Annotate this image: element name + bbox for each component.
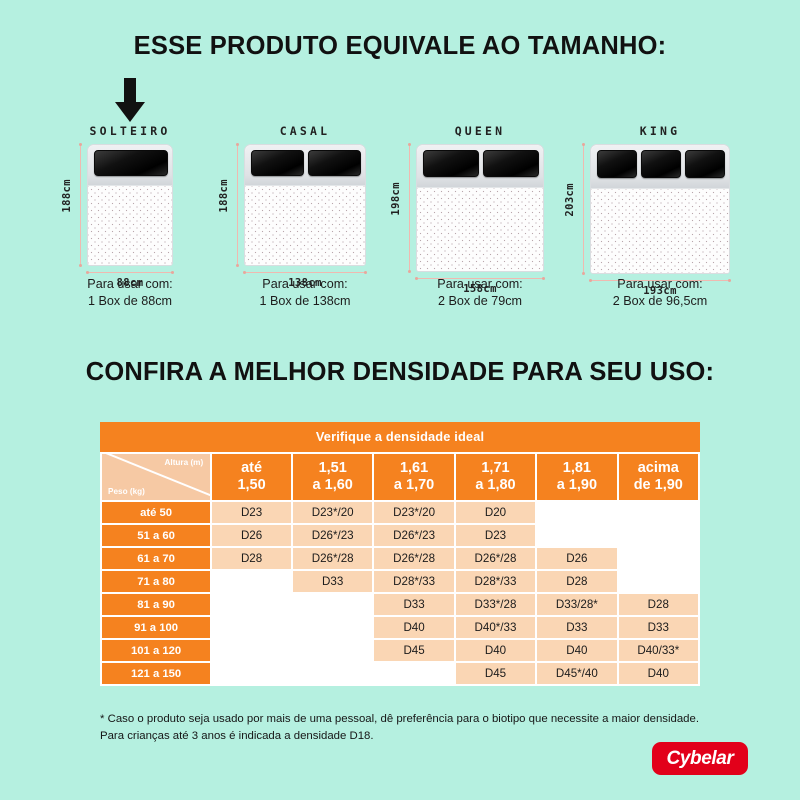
table-row: até 50D23D23*/20D23*/20D20 (102, 502, 698, 523)
density-cell-empty (374, 663, 453, 684)
axis-label-weight: Peso (kg) (108, 487, 145, 497)
density-cell-empty (537, 525, 616, 546)
guide-tick (243, 271, 246, 274)
density-cell-empty (293, 663, 372, 684)
table-row: 51 a 60D26D26*/23D26*/23D23 (102, 525, 698, 546)
column-header-line2: de 1,90 (619, 477, 698, 494)
page-title-sizes: ESSE PRODUTO EQUIVALE AO TAMANHO: (0, 32, 800, 61)
density-cell: D20 (456, 502, 535, 523)
bed-usage-note: Para usar com:2 Box de 79cm (390, 276, 570, 310)
density-cell: D26 (212, 525, 291, 546)
pillow-icon (308, 150, 361, 176)
bed-illustration (590, 144, 730, 274)
bed-usage-note: Para usar com:2 Box de 96,5cm (565, 276, 755, 310)
density-cell: D26*/28 (374, 548, 453, 569)
density-cell: D26*/23 (374, 525, 453, 546)
pillow-icon (685, 150, 725, 178)
density-grid: Altura (m) Peso (kg) até1,501,51a 1,601,… (100, 452, 700, 686)
density-cell-empty (619, 525, 698, 546)
pillow-icon (641, 150, 681, 178)
guide-tick (86, 271, 89, 274)
density-cell-empty (212, 617, 291, 638)
density-cell: D33 (293, 571, 372, 592)
axis-label-height-line1: Altura (165, 458, 189, 467)
table-row: 91 a 100D40D40*/33D33D33 (102, 617, 698, 638)
bed-card-queen: QUEEN198cm158cmPara usar com:2 Box de 79… (390, 76, 570, 326)
column-header-line2: a 1,60 (293, 477, 372, 494)
density-cell-empty (619, 571, 698, 592)
bed-illustration (244, 144, 366, 266)
density-cell: D33/28* (537, 594, 616, 615)
axis-label-height: Altura (m) (165, 458, 204, 468)
brand-logo: Cybelar (652, 742, 748, 775)
density-cell: D28 (537, 571, 616, 592)
density-cell-empty (212, 571, 291, 592)
density-cell-empty (293, 640, 372, 661)
footnote: * Caso o produto seja usado por mais de … (100, 711, 700, 744)
mattress-surface (88, 185, 172, 265)
density-cell: D26*/28 (293, 548, 372, 569)
table-body: até 50D23D23*/20D23*/20D2051 a 60D26D26*… (102, 502, 698, 684)
pillow-icon (597, 150, 637, 178)
guide-tick (79, 143, 82, 146)
density-cell-empty (293, 594, 372, 615)
density-cell: D40 (456, 640, 535, 661)
bed-usage-note-line1: Para usar com: (215, 276, 395, 293)
density-cell-empty (619, 548, 698, 569)
density-cell: D26 (537, 548, 616, 569)
density-cell: D28 (619, 594, 698, 615)
column-header-line2: a 1,90 (537, 477, 616, 494)
bed-size-name: QUEEN (390, 124, 570, 138)
axis-corner-cell: Altura (m) Peso (kg) (102, 454, 210, 500)
column-header-line1: 1,51 (293, 460, 372, 477)
density-cell-empty (619, 502, 698, 523)
bed-illustration (87, 144, 173, 266)
row-header-weight-range: 101 a 120 (102, 640, 210, 661)
density-cell: D33 (619, 617, 698, 638)
column-header-5: 1,81a 1,90 (537, 454, 616, 500)
bed-usage-note-line2: 2 Box de 96,5cm (565, 293, 755, 310)
density-cell: D26*/28 (456, 548, 535, 569)
bed-usage-note-line1: Para usar com: (40, 276, 220, 293)
row-header-weight-range: 121 a 150 (102, 663, 210, 684)
row-header-weight-range: 51 a 60 (102, 525, 210, 546)
table-header-row: Altura (m) Peso (kg) até1,501,51a 1,601,… (102, 454, 698, 500)
column-header-line2: a 1,80 (456, 477, 535, 494)
column-header-6: acimade 1,90 (619, 454, 698, 500)
density-cell: D33 (374, 594, 453, 615)
table-row: 71 a 80D33D28*/33D28*/33D28 (102, 571, 698, 592)
bed-height-dimension: 203cm (564, 183, 576, 217)
guide-tick (79, 264, 82, 267)
width-guide-line (87, 272, 173, 273)
column-header-3: 1,61a 1,70 (374, 454, 453, 500)
density-cell-empty (212, 663, 291, 684)
density-cell: D45 (456, 663, 535, 684)
bed-usage-note-line2: 1 Box de 88cm (40, 293, 220, 310)
bed-usage-note-line1: Para usar com: (565, 276, 755, 293)
pillow-icon (251, 150, 304, 176)
column-header-line1: até (212, 460, 291, 477)
column-header-4: 1,71a 1,80 (456, 454, 535, 500)
column-header-line2: 1,50 (212, 477, 291, 494)
width-guide-line (244, 272, 366, 273)
axis-label-weight-line1: Peso (108, 487, 128, 496)
axis-label-height-line2: (m) (190, 458, 203, 467)
density-cell: D28 (212, 548, 291, 569)
density-cell: D28*/33 (456, 571, 535, 592)
height-guide-line (409, 144, 410, 272)
guide-tick (408, 143, 411, 146)
density-cell-empty (293, 617, 372, 638)
mattress-surface (417, 187, 543, 271)
density-cell: D45*/40 (537, 663, 616, 684)
density-cell-empty (537, 502, 616, 523)
pillow-icon (94, 150, 168, 176)
bed-illustration (416, 144, 544, 272)
height-guide-line (583, 144, 584, 274)
row-header-weight-range: 71 a 80 (102, 571, 210, 592)
bed-card-casal: CASAL188cm138cmPara usar com:1 Box de 13… (215, 76, 395, 326)
bed-size-name: KING (565, 124, 755, 138)
table-banner: Verifique a densidade ideal (100, 422, 700, 452)
column-header-1: até1,50 (212, 454, 291, 500)
row-header-weight-range: até 50 (102, 502, 210, 523)
bed-height-dimension: 198cm (390, 182, 402, 216)
table-row: 121 a 150D45D45*/40D40 (102, 663, 698, 684)
density-cell-empty (212, 640, 291, 661)
mattress-surface (245, 185, 365, 265)
bed-usage-note-line1: Para usar com: (390, 276, 570, 293)
density-cell: D26*/23 (293, 525, 372, 546)
height-guide-line (80, 144, 81, 266)
row-header-weight-range: 81 a 90 (102, 594, 210, 615)
bed-usage-note: Para usar com:1 Box de 138cm (215, 276, 395, 310)
column-header-line1: acima (619, 460, 698, 477)
pillow-icon (483, 150, 539, 177)
guide-tick (236, 264, 239, 267)
table-head: Altura (m) Peso (kg) até1,501,51a 1,601,… (102, 454, 698, 500)
arrow-down-icon (115, 78, 145, 122)
density-cell: D45 (374, 640, 453, 661)
row-header-weight-range: 61 a 70 (102, 548, 210, 569)
page-title-density: CONFIRA A MELHOR DENSIDADE PARA SEU USO: (0, 358, 800, 387)
density-table: Verifique a densidade ideal Altura (m) P… (100, 422, 700, 686)
footnote-line-2: Para crianças até 3 anos é indicada a de… (100, 728, 700, 745)
density-cell: D40*/33 (456, 617, 535, 638)
bed-size-name: SOLTEIRO (40, 124, 220, 138)
density-cell: D23 (456, 525, 535, 546)
density-cell: D40 (537, 640, 616, 661)
column-header-line1: 1,81 (537, 460, 616, 477)
guide-tick (582, 272, 585, 275)
guide-tick (408, 270, 411, 273)
guide-tick (171, 271, 174, 274)
row-header-weight-range: 91 a 100 (102, 617, 210, 638)
table-row: 61 a 70D28D26*/28D26*/28D26*/28D26 (102, 548, 698, 569)
guide-tick (236, 143, 239, 146)
guide-tick (364, 271, 367, 274)
bed-usage-note-line2: 2 Box de 79cm (390, 293, 570, 310)
bed-height-dimension: 188cm (218, 179, 230, 213)
bed-usage-note: Para usar com:1 Box de 88cm (40, 276, 220, 310)
height-guide-line (237, 144, 238, 266)
bed-height-dimension: 188cm (61, 179, 73, 213)
column-header-2: 1,51a 1,60 (293, 454, 372, 500)
density-cell: D33 (537, 617, 616, 638)
density-cell-empty (212, 594, 291, 615)
density-cell: D40 (374, 617, 453, 638)
table-row: 101 a 120D45D40D40D40/33* (102, 640, 698, 661)
density-cell: D23 (212, 502, 291, 523)
density-cell: D28*/33 (374, 571, 453, 592)
density-cell: D33*/28 (456, 594, 535, 615)
guide-tick (582, 143, 585, 146)
bed-usage-note-line2: 1 Box de 138cm (215, 293, 395, 310)
column-header-line2: a 1,70 (374, 477, 453, 494)
pillow-icon (423, 150, 479, 177)
arrow-head (115, 102, 145, 122)
footnote-line-1: * Caso o produto seja usado por mais de … (100, 711, 700, 728)
density-cell: D23*/20 (293, 502, 372, 523)
axis-label-weight-line2: (kg) (130, 487, 145, 496)
column-header-line1: 1,71 (456, 460, 535, 477)
column-header-line1: 1,61 (374, 460, 453, 477)
density-cell: D40/33* (619, 640, 698, 661)
density-cell: D40 (619, 663, 698, 684)
bed-sizes-row: SOLTEIRO188cm88cmPara usar com:1 Box de … (0, 76, 800, 326)
table-row: 81 a 90D33D33*/28D33/28*D28 (102, 594, 698, 615)
bed-size-name: CASAL (215, 124, 395, 138)
bed-card-king: KING203cm193cmPara usar com:2 Box de 96,… (565, 76, 755, 326)
arrow-shaft (124, 78, 136, 104)
mattress-surface (591, 188, 729, 273)
density-cell: D23*/20 (374, 502, 453, 523)
bed-card-solteiro: SOLTEIRO188cm88cmPara usar com:1 Box de … (40, 76, 220, 326)
